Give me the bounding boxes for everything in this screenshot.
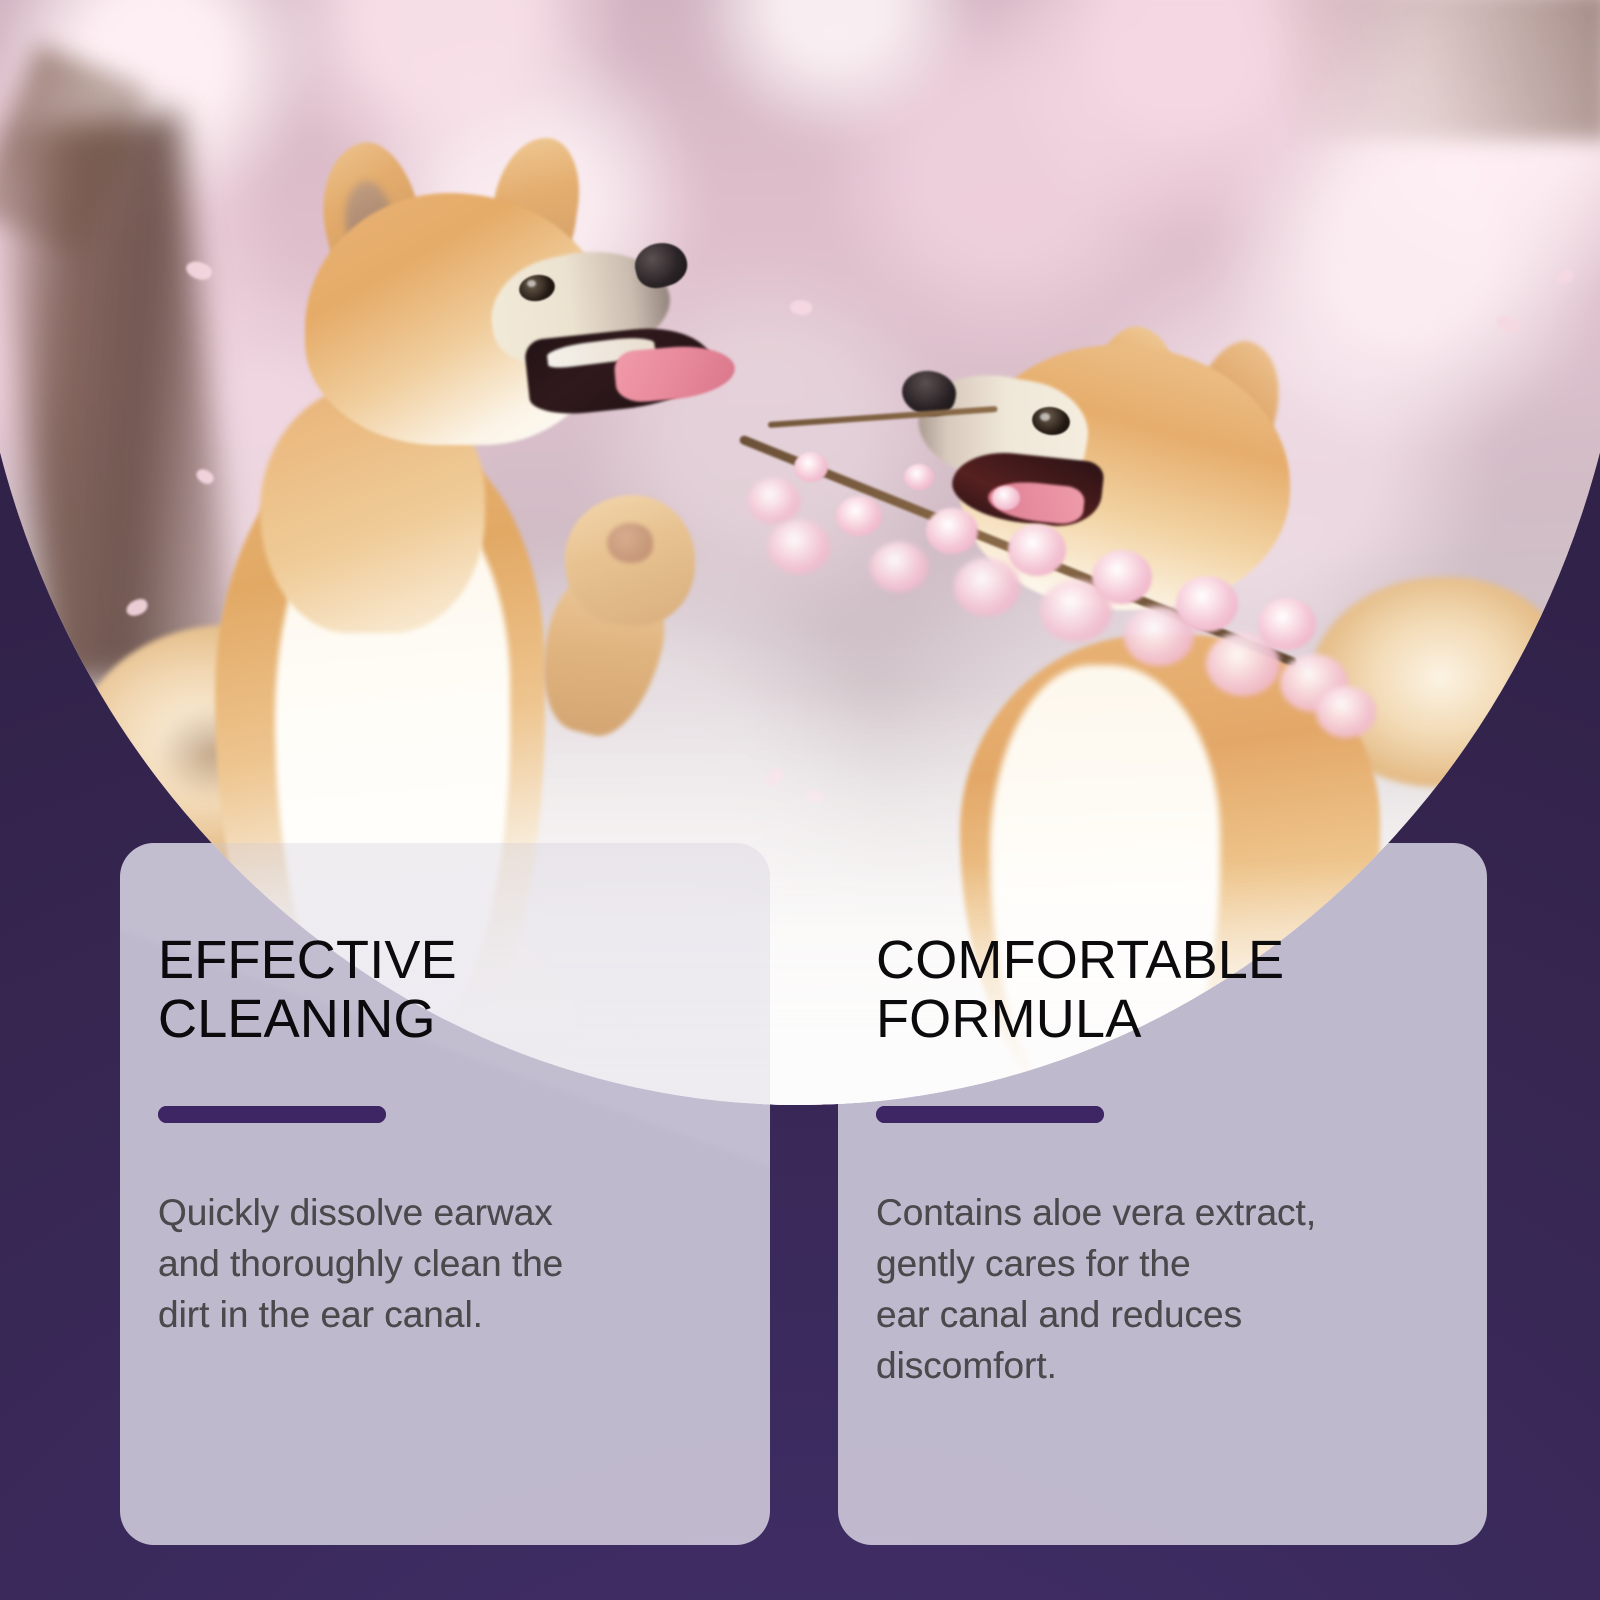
card-description: Contains aloe vera extract, gently cares… [876,1187,1461,1391]
feature-poster: EFFECTIVE CLEANING Quickly dissolve earw… [0,0,1600,1600]
card-title: EFFECTIVE CLEANING [158,931,770,1050]
card-description: Quickly dissolve earwax and thoroughly c… [158,1187,743,1340]
card-divider [158,1106,386,1123]
card-title: COMFORTABLE FORMULA [876,931,1487,1050]
card-divider [876,1106,1104,1123]
feature-card-comfortable-formula[interactable]: COMFORTABLE FORMULA Contains aloe vera e… [838,843,1487,1545]
feature-card-effective-cleaning[interactable]: EFFECTIVE CLEANING Quickly dissolve earw… [120,843,770,1545]
